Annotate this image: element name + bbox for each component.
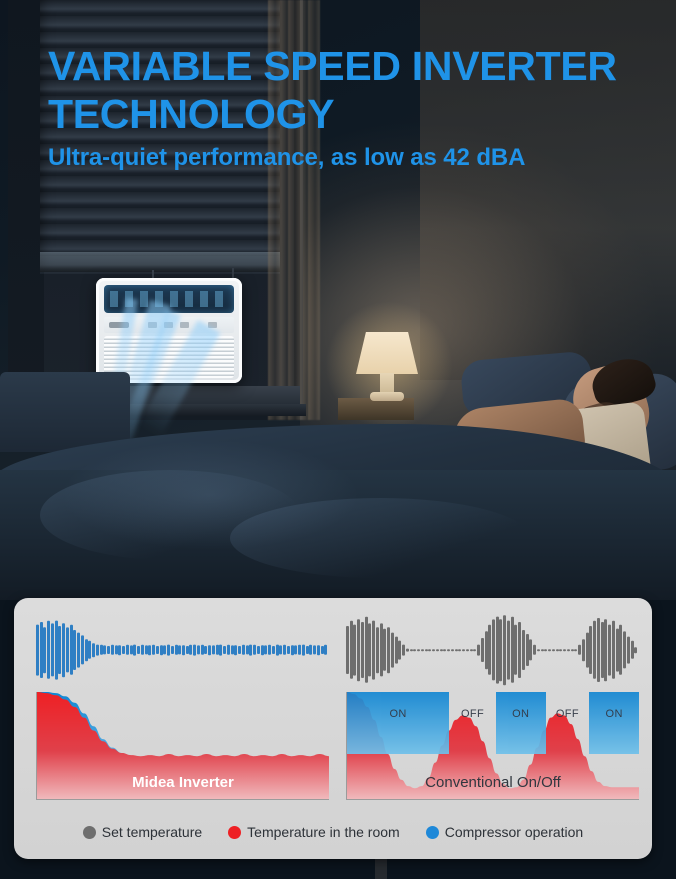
waveform-bar bbox=[70, 625, 73, 675]
waveform-bar bbox=[145, 646, 148, 655]
waveform-bar bbox=[556, 649, 559, 651]
waveform-bar bbox=[219, 644, 222, 655]
waveform-bar bbox=[156, 646, 159, 654]
headboard bbox=[0, 372, 130, 452]
waveform-bar bbox=[130, 646, 133, 655]
waveform-bar bbox=[43, 627, 46, 673]
page-title: VARIABLE SPEED INVERTER TECHNOLOGY bbox=[48, 42, 654, 138]
waveform-bar bbox=[492, 620, 495, 681]
waveform-bar bbox=[227, 645, 230, 655]
waveform-bar bbox=[178, 646, 181, 655]
waveform-bar bbox=[582, 639, 585, 661]
waveform-bar bbox=[272, 646, 275, 654]
waveform-bar bbox=[503, 615, 506, 685]
waveform-bar bbox=[368, 624, 371, 677]
waveform-bar bbox=[391, 632, 394, 667]
waveform-bar bbox=[380, 624, 383, 677]
waveform-bar bbox=[58, 626, 61, 674]
waveform-bar bbox=[279, 646, 282, 655]
waveform-bar bbox=[242, 645, 245, 655]
waveform-bar bbox=[313, 646, 316, 655]
waveform-bar bbox=[81, 636, 84, 665]
graph-label-inverter: Midea Inverter bbox=[37, 774, 329, 791]
waveform-bar bbox=[541, 649, 544, 651]
waveform-bar bbox=[208, 645, 211, 655]
waveform-bar bbox=[529, 640, 532, 661]
waveform-bar bbox=[526, 634, 529, 666]
waveform-bar bbox=[514, 625, 517, 675]
waveform-bar bbox=[321, 646, 324, 654]
waveform-bar bbox=[522, 630, 525, 670]
waveform-bar bbox=[77, 632, 80, 667]
waveform-bar bbox=[533, 645, 536, 655]
waveform-bar bbox=[507, 620, 510, 679]
compressor-on-label: ON bbox=[589, 708, 639, 720]
waveform-bar bbox=[559, 649, 562, 651]
waveform-bar bbox=[552, 649, 555, 651]
waveform-bar bbox=[186, 646, 189, 654]
waveform-bar bbox=[306, 646, 309, 654]
waveform-bar bbox=[398, 640, 401, 659]
compressor-off-label: OFF bbox=[449, 708, 496, 720]
waveform-bar bbox=[481, 638, 484, 662]
waveform-bar bbox=[451, 649, 454, 651]
ac-button-timer bbox=[180, 322, 189, 328]
waveform-bar bbox=[440, 649, 443, 651]
waveform-bar bbox=[287, 646, 290, 654]
waveform-bar bbox=[324, 645, 327, 655]
waveform-bar bbox=[253, 645, 256, 655]
waveform-bar bbox=[51, 624, 54, 677]
nightstand bbox=[338, 398, 414, 420]
legend-dot-compressor bbox=[426, 826, 439, 839]
waveform-bar bbox=[623, 632, 626, 669]
waveform-bar bbox=[55, 620, 58, 679]
compressor-off-label: OFF bbox=[546, 708, 590, 720]
waveform-bar bbox=[432, 649, 435, 651]
waveform-bar bbox=[276, 644, 279, 655]
waveform-bar bbox=[593, 621, 596, 679]
waveform-bar bbox=[264, 646, 267, 655]
chart-legend: Set temperature Temperature in the room … bbox=[14, 824, 652, 840]
waveform-bar bbox=[511, 617, 514, 683]
waveform-bar bbox=[425, 649, 428, 651]
compressor-on-label: ON bbox=[347, 708, 449, 720]
waveform-bar bbox=[309, 645, 312, 655]
waveform-bar bbox=[197, 646, 200, 655]
waveform-bar bbox=[193, 644, 196, 655]
compressor-on-label: ON bbox=[496, 708, 546, 720]
compressor-on-block: ON bbox=[496, 692, 546, 754]
waveform-bar bbox=[96, 644, 99, 655]
page-subtitle: Ultra-quiet performance, as low as 42 dB… bbox=[48, 144, 654, 172]
compressor-on-block: ON bbox=[347, 692, 449, 754]
waveform-bar bbox=[302, 644, 305, 655]
waveform-bar bbox=[608, 624, 611, 675]
waveform-bar bbox=[383, 629, 386, 671]
waveform-bar bbox=[548, 649, 551, 651]
waveform-bar bbox=[376, 627, 379, 673]
waveform-bar bbox=[499, 619, 502, 681]
waveform-bar bbox=[234, 645, 237, 655]
waveform-bar bbox=[455, 649, 458, 651]
waveform-bar bbox=[231, 646, 234, 655]
waveform-bar bbox=[357, 619, 360, 681]
waveform-bar bbox=[111, 645, 114, 655]
waveform-bar bbox=[417, 649, 420, 651]
waveform-bar bbox=[137, 646, 140, 654]
waveform-bar bbox=[634, 647, 637, 653]
waveform-bar bbox=[141, 645, 144, 655]
waveform-bar bbox=[47, 621, 50, 679]
waveform-bar bbox=[298, 645, 301, 655]
waveform-bar bbox=[261, 645, 264, 655]
waveform-inverter bbox=[36, 614, 328, 686]
waveform-bar bbox=[421, 649, 424, 651]
waveform-bar bbox=[66, 628, 69, 673]
waveform-bar bbox=[133, 644, 136, 655]
promo-page: VARIABLE SPEED INVERTER TECHNOLOGY Ultra… bbox=[0, 0, 676, 879]
legend-label-compressor: Compressor operation bbox=[445, 824, 584, 840]
waveform-bar bbox=[100, 645, 103, 655]
waveform-bar bbox=[152, 645, 155, 655]
waveform-bar bbox=[204, 646, 207, 654]
waveform-bar bbox=[350, 621, 353, 679]
legend-item-room-temperature: Temperature in the room bbox=[228, 824, 400, 840]
table-lamp-shade bbox=[356, 332, 418, 374]
waveform-bar bbox=[443, 649, 446, 651]
waveform-bar bbox=[627, 636, 630, 663]
waveform-bar bbox=[365, 617, 368, 683]
waveform-bar bbox=[92, 643, 95, 657]
waveform-bar bbox=[175, 645, 178, 655]
waveform-bar bbox=[317, 645, 320, 655]
waveform-bar bbox=[115, 646, 118, 655]
waveform-bar bbox=[473, 649, 476, 651]
waveform-bar bbox=[223, 646, 226, 654]
waveform-bar bbox=[294, 646, 297, 655]
waveform-bar bbox=[619, 625, 622, 675]
waveform-bar bbox=[291, 645, 294, 655]
waveform-bar bbox=[387, 627, 390, 673]
waveform-bar bbox=[88, 641, 91, 659]
waveform-bar bbox=[182, 645, 185, 655]
waveform-bar bbox=[413, 649, 416, 651]
waveform-bar bbox=[436, 649, 439, 651]
waveform-bar bbox=[458, 649, 461, 651]
blinds-highlight bbox=[40, 252, 280, 274]
waveform-bar bbox=[574, 649, 577, 651]
graph-conventional: ONOFFONOFFONConventional On/Off bbox=[346, 692, 639, 800]
waveform-bar bbox=[118, 645, 121, 655]
compressor-on-block: ON bbox=[589, 692, 639, 754]
waveform-bar bbox=[40, 622, 43, 678]
legend-item-set-temperature: Set temperature bbox=[83, 824, 202, 840]
panel-inverter: Midea Inverter bbox=[36, 614, 328, 799]
waveform-bar bbox=[488, 625, 491, 675]
waveform-bar bbox=[372, 620, 375, 679]
waveform-bar bbox=[571, 649, 574, 651]
waveform-bar bbox=[167, 644, 170, 655]
waveform-bar bbox=[612, 621, 615, 679]
graph-label-conventional: Conventional On/Off bbox=[347, 774, 639, 791]
waveform-bar bbox=[485, 631, 488, 669]
waveform-bar bbox=[567, 649, 570, 651]
waveform-bar bbox=[395, 636, 398, 663]
waveform-bar bbox=[578, 645, 581, 655]
waveform-bar bbox=[346, 626, 349, 674]
waveform-bar bbox=[246, 646, 249, 655]
waveform-bar bbox=[601, 622, 604, 678]
legend-item-compressor: Compressor operation bbox=[426, 824, 584, 840]
waveform-bar bbox=[563, 649, 566, 651]
waveform-bar bbox=[616, 628, 619, 671]
waveform-bar bbox=[257, 646, 260, 654]
waveform-bar bbox=[604, 619, 607, 681]
graph-inverter: Midea Inverter bbox=[36, 692, 329, 800]
waveform-bar bbox=[477, 644, 480, 655]
waveform-bar bbox=[466, 649, 469, 651]
waveform-bar bbox=[171, 646, 174, 654]
waveform-bar bbox=[402, 644, 405, 655]
waveform-bar bbox=[103, 646, 106, 655]
waveform-bar bbox=[537, 649, 540, 651]
waveform-bar bbox=[73, 630, 76, 670]
waveform-bar bbox=[238, 646, 241, 654]
waveform-bar bbox=[163, 646, 166, 655]
waveform-bar bbox=[212, 646, 215, 655]
waveform-bar bbox=[470, 649, 473, 651]
waveform-bar bbox=[268, 645, 271, 655]
legend-dot-room-temperature bbox=[228, 826, 241, 839]
waveform-bar bbox=[406, 648, 409, 651]
waveform-bar bbox=[216, 645, 219, 655]
panel-conventional: ONOFFONOFFONConventional On/Off bbox=[346, 614, 638, 799]
waveform-bar bbox=[126, 645, 129, 655]
waveform-bar bbox=[353, 624, 356, 675]
legend-dot-set-temperature bbox=[83, 826, 96, 839]
waveform-bar bbox=[249, 644, 252, 655]
waveform-bar bbox=[36, 624, 39, 675]
waveform-bar bbox=[283, 645, 286, 655]
waveform-bar bbox=[201, 645, 204, 655]
waveform-bar bbox=[589, 626, 592, 674]
waveform-bar bbox=[428, 649, 431, 651]
waveform-bar bbox=[148, 645, 151, 655]
waveform-bar bbox=[462, 649, 465, 651]
waveform-bar bbox=[107, 646, 110, 654]
legend-label-room-temperature: Temperature in the room bbox=[247, 824, 400, 840]
waveform-bar bbox=[85, 639, 88, 661]
waveform-bar bbox=[361, 622, 364, 678]
waveform-bar bbox=[631, 641, 634, 659]
waveform-bar bbox=[447, 649, 450, 651]
waveform-bar bbox=[122, 646, 125, 654]
waveform-bar bbox=[496, 616, 499, 683]
waveform-bar bbox=[597, 618, 600, 682]
waveform-bar bbox=[410, 649, 413, 651]
duvet-fold-2 bbox=[230, 498, 530, 578]
legend-label-set-temperature: Set temperature bbox=[102, 824, 202, 840]
waveform-bar bbox=[544, 649, 547, 651]
table-lamp-base bbox=[370, 392, 404, 401]
waveform-bar bbox=[160, 645, 163, 655]
waveform-bar bbox=[189, 645, 192, 655]
waveform-bar bbox=[586, 632, 589, 667]
waveform-bar bbox=[62, 623, 65, 677]
waveform-conventional bbox=[346, 614, 638, 686]
waveform-bar bbox=[518, 622, 521, 678]
comparison-card: Midea Inverter ONOFFONOFFONConventional … bbox=[14, 598, 652, 859]
